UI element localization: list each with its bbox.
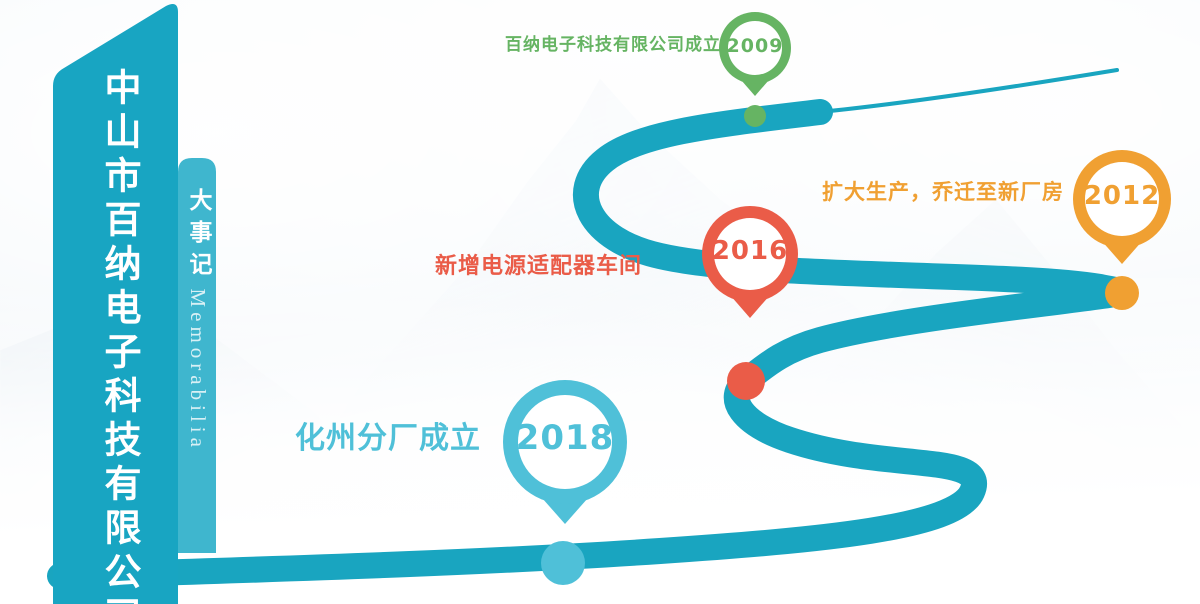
pin-year-2018: 2018 <box>503 418 627 458</box>
map-pin-icon-2009[interactable]: 2009 <box>719 12 791 96</box>
milestone-label-2012: 扩大生产，乔迁至新厂房 <box>822 176 1064 206</box>
pin-year-2016: 2016 <box>702 236 798 266</box>
milestone-dot-2016 <box>727 362 765 400</box>
milestone-dot-2012 <box>1105 276 1139 310</box>
milestone-label-2018: 化州分厂成立 <box>295 413 481 457</box>
map-pin-icon-2016[interactable]: 2016 <box>702 206 798 318</box>
map-pin-icon-2012[interactable]: 2012 <box>1073 150 1171 264</box>
pin-year-2009: 2009 <box>719 35 791 57</box>
milestone-dot-2018 <box>541 541 585 585</box>
milestone-label-2016: 新增电源适配器车间 <box>435 248 642 280</box>
map-pin-icon-2018[interactable]: 2018 <box>503 380 627 524</box>
infographic-canvas: 中山市百纳电子科技有限公司 大事记 Memorabilia 2009百纳电子科技… <box>0 0 1200 604</box>
milestone-dot-2009 <box>744 105 766 127</box>
pin-year-2012: 2012 <box>1073 181 1171 211</box>
milestone-label-2009: 百纳电子科技有限公司成立 <box>505 30 721 55</box>
